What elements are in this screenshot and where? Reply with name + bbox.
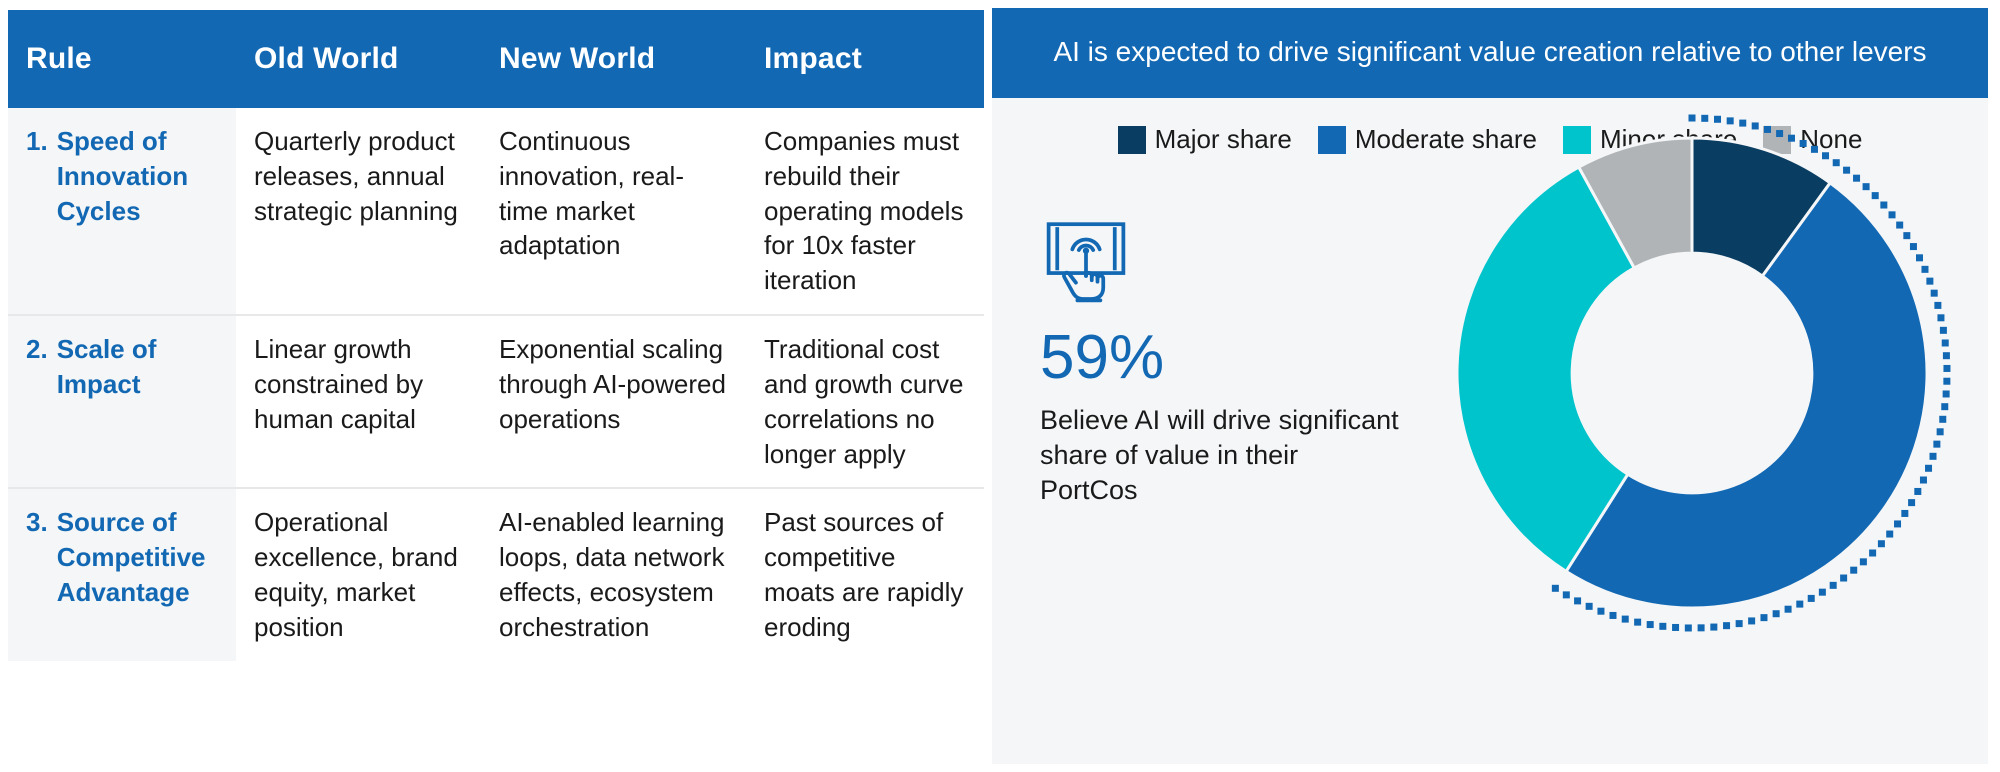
cell-new-world: Exponential scaling through AI-powered o… (481, 315, 746, 488)
donut-arc-dot (1937, 314, 1944, 321)
donut-arc-dot (1925, 465, 1932, 472)
rules-table: Rule Old World New World Impact 1. Speed… (8, 10, 984, 661)
donut-arc-dot (1685, 624, 1692, 631)
donut-arc-dot (1843, 167, 1850, 174)
donut-arc-dot (1863, 183, 1870, 190)
cell-old-world: Operational excellence, brand equity, ma… (236, 488, 481, 660)
column-header-old-world: Old World (236, 10, 481, 108)
donut-arc-dot (1903, 232, 1910, 239)
table-header-row: Rule Old World New World Impact (8, 10, 984, 108)
donut-arc-dot (1943, 390, 1950, 397)
donut-arc-dot (1659, 623, 1666, 630)
rule-number: 2. (26, 332, 48, 402)
donut-arc-dot (1597, 608, 1604, 615)
donut-arc-dot (1937, 428, 1944, 435)
donut-arc-dot (1723, 622, 1730, 629)
donut-arc-dot (1894, 520, 1901, 527)
donut-arc-dot (1896, 222, 1903, 229)
chart-panel: AI is expected to drive significant valu… (990, 0, 2000, 772)
donut-arc-dot (1943, 365, 1950, 372)
donut-arc-dot (1914, 488, 1921, 495)
donut-arc-dot (1776, 130, 1783, 137)
cell-old-world: Linear growth constrained by human capit… (236, 315, 481, 488)
donut-arc-dot (1886, 531, 1893, 538)
donut-arc-dot (1698, 624, 1705, 631)
donut-arc-dot (1916, 254, 1923, 261)
donut-arc-dot (1714, 116, 1721, 123)
donut-arc-dot (1586, 603, 1593, 610)
donut-arc-dot (1710, 624, 1717, 631)
donut-arc-dot (1739, 120, 1746, 127)
donut-arc-dot (1752, 122, 1759, 129)
cell-rule: 3. Source of Competitive Advantage (8, 488, 236, 660)
column-header-rule: Rule (8, 10, 236, 108)
donut-arc-dot (1931, 290, 1938, 297)
donut-arc-dot (1943, 352, 1950, 359)
donut-arc-dot (1930, 453, 1937, 460)
donut-arc-dot (1808, 595, 1815, 602)
donut-arc-dot (1840, 575, 1847, 582)
stat-caption: Believe AI will drive significant share … (1040, 403, 1400, 508)
rule-title: Source of Competitive Advantage (57, 505, 220, 609)
donut-arc-dot (1622, 616, 1629, 623)
donut-arc-dot (1939, 416, 1946, 423)
donut-arc-dot (1910, 243, 1917, 250)
donut-arc-dot (1908, 499, 1915, 506)
donut-arc-dot (1942, 339, 1949, 346)
donut-arc-dot (1800, 140, 1807, 147)
donut-arc-dot (1748, 617, 1755, 624)
legend-item[interactable]: Major share (1118, 124, 1292, 155)
rule-number: 1. (26, 124, 48, 228)
rule-number: 3. (26, 505, 48, 609)
cell-impact: Past sources of competitive moats are ra… (746, 488, 984, 660)
table-body: 1. Speed of Innovation Cycles Quarterly … (8, 108, 984, 661)
table-row: 1. Speed of Innovation Cycles Quarterly … (8, 108, 984, 315)
donut-arc-dot (1926, 278, 1933, 285)
donut-arc-dot (1933, 441, 1940, 448)
column-header-impact: Impact (746, 10, 984, 108)
donut-arc-dot (1830, 582, 1837, 589)
cell-rule: 2. Scale of Impact (8, 315, 236, 488)
cell-new-world: Continuous innovation, real-time market … (481, 108, 746, 315)
donut-arc-dot (1940, 327, 1947, 334)
donut-arc-dot (1760, 614, 1767, 621)
donut-arc-dot (1764, 126, 1771, 133)
donut-arc-dot (1736, 620, 1743, 627)
legend-label: Major share (1155, 124, 1292, 155)
donut-arc-dot (1934, 302, 1941, 309)
chart-card: AI is expected to drive significant valu… (992, 8, 1988, 764)
rules-table-panel: Rule Old World New World Impact 1. Speed… (0, 0, 990, 772)
cell-new-world: AI-enabled learning loops, data network … (481, 488, 746, 660)
donut-arc-dot (1860, 558, 1867, 565)
table-header: Rule Old World New World Impact (8, 10, 984, 108)
legend-swatch-icon (1118, 126, 1146, 154)
donut-arc-dot (1552, 585, 1559, 592)
cell-impact: Traditional cost and growth curve correl… (746, 315, 984, 488)
donut-arc-dot (1853, 175, 1860, 182)
donut-arc-dot (1850, 567, 1857, 574)
donut-arc-dot (1634, 619, 1641, 626)
table-row: 2. Scale of Impact Linear growth constra… (8, 315, 984, 488)
donut-arc-dot (1672, 624, 1679, 631)
donut-arc-dot (1880, 202, 1887, 209)
donut-arc-dot (1701, 115, 1708, 122)
donut-arc-dot (1833, 159, 1840, 166)
cell-impact: Companies must rebuild their operating m… (746, 108, 984, 315)
donut-arc-dot (1869, 550, 1876, 557)
donut-arc-dot (1796, 601, 1803, 608)
rule-title: Speed of Innovation Cycles (57, 124, 220, 228)
chart-title: AI is expected to drive significant valu… (992, 8, 1988, 98)
donut-arc-dot (1647, 621, 1654, 628)
stat-value: 59% (1040, 327, 1440, 389)
donut-arc-dot (1822, 152, 1829, 159)
donut-arc-dot (1727, 117, 1734, 124)
donut-arc-dot (1889, 211, 1896, 218)
donut-arc-dot (1773, 610, 1780, 617)
donut-arc-dot (1574, 597, 1581, 604)
chart-body: 59% Believe AI will drive significant sh… (992, 155, 1988, 755)
donut-arc-dot (1788, 135, 1795, 142)
stat-block: 59% Believe AI will drive significant sh… (1040, 217, 1440, 508)
donut-arc-dot (1563, 591, 1570, 598)
donut-chart-svg (1422, 103, 1962, 643)
donut-arc-dot (1689, 115, 1696, 122)
donut-arc-dot (1785, 606, 1792, 613)
donut-arc-dot (1878, 540, 1885, 547)
donut-arc-dot (1941, 403, 1948, 410)
cell-rule: 1. Speed of Innovation Cycles (8, 108, 236, 315)
donut-segments (1457, 138, 1927, 608)
table-row: 3. Source of Competitive Advantage Opera… (8, 488, 984, 660)
donut-arc-dot (1609, 612, 1616, 619)
donut-arc-dot (1920, 477, 1927, 484)
touch-tap-icon (1040, 217, 1440, 309)
donut-arc-dot (1819, 589, 1826, 596)
donut-arc-dot (1872, 192, 1879, 199)
slide-root: Rule Old World New World Impact 1. Speed… (0, 0, 2000, 772)
column-header-new-world: New World (481, 10, 746, 108)
cell-old-world: Quarterly product releases, annual strat… (236, 108, 481, 315)
donut-arc-dot (1921, 266, 1928, 273)
donut-arc-dot (1943, 378, 1950, 385)
donut-arc-dot (1811, 146, 1818, 153)
rule-title: Scale of Impact (57, 332, 220, 402)
donut-chart (1422, 103, 1962, 643)
legend-swatch-icon (1318, 126, 1346, 154)
donut-arc-dot (1901, 510, 1908, 517)
